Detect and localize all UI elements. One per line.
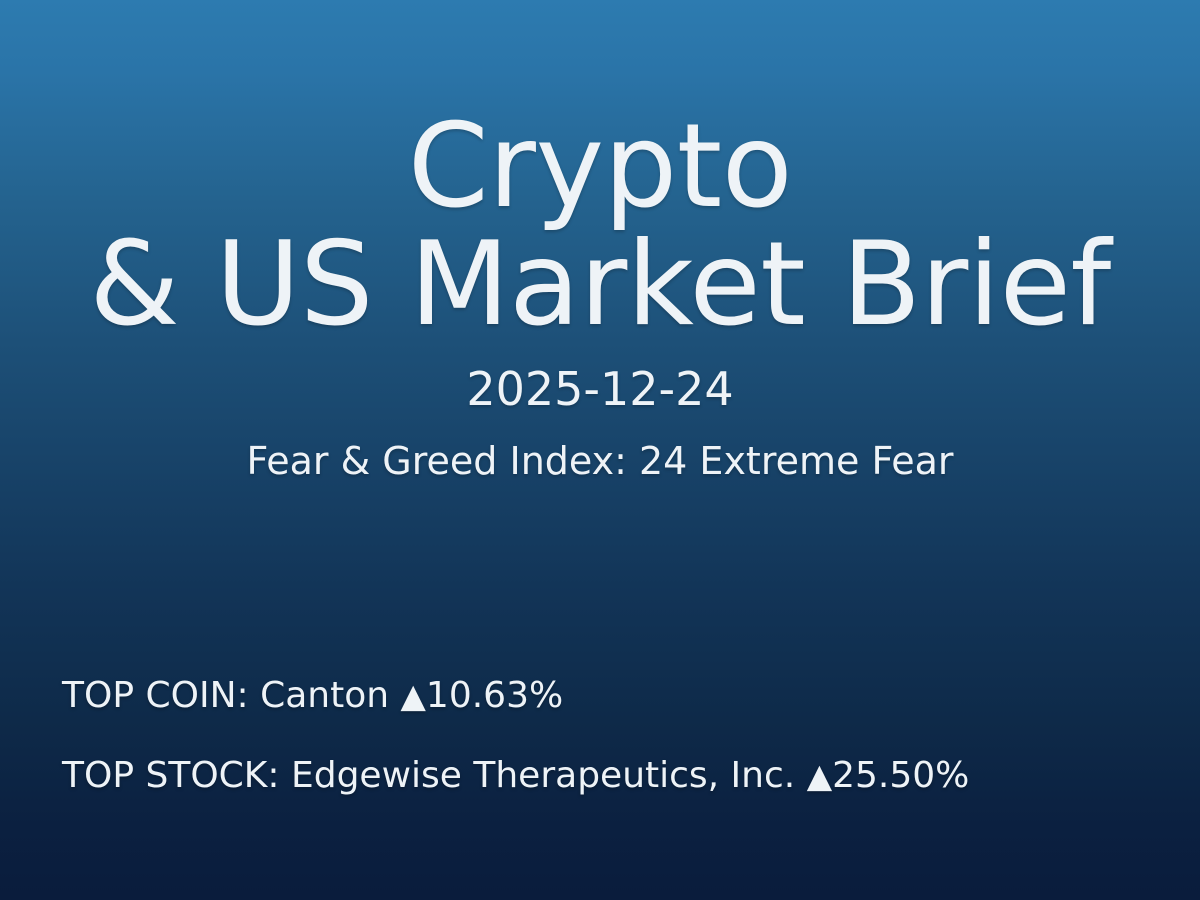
top-coin-name: Canton — [260, 675, 389, 716]
top-stock-change: 25.50% — [832, 755, 969, 796]
report-date: 2025-12-24 — [0, 344, 1200, 414]
page-title-line-2: & US Market Brief — [0, 226, 1200, 344]
top-coin-change: 10.63% — [426, 675, 563, 716]
page-title-line-1: Crypto — [0, 0, 1200, 226]
header-block: Crypto & US Market Brief 2025-12-24 Fear… — [0, 0, 1200, 482]
top-stock-line: TOP STOCK: Edgewise Therapeutics, Inc. ▲… — [62, 756, 1162, 796]
top-stock-name: Edgewise Therapeutics, Inc. — [291, 755, 795, 796]
trend-up-icon: ▲ — [807, 756, 832, 795]
top-coin-label: TOP COIN: — [62, 675, 249, 716]
fear-greed-index: Fear & Greed Index: 24 Extreme Fear — [0, 414, 1200, 482]
highlights-section: TOP COIN: Canton ▲10.63% TOP STOCK: Edge… — [62, 676, 1162, 796]
trend-up-icon: ▲ — [401, 676, 426, 715]
top-stock-label: TOP STOCK: — [62, 755, 280, 796]
page-title: Crypto & US Market Brief — [0, 0, 1200, 344]
market-brief-slide: Crypto & US Market Brief 2025-12-24 Fear… — [0, 0, 1200, 900]
top-coin-line: TOP COIN: Canton ▲10.63% — [62, 676, 1162, 716]
